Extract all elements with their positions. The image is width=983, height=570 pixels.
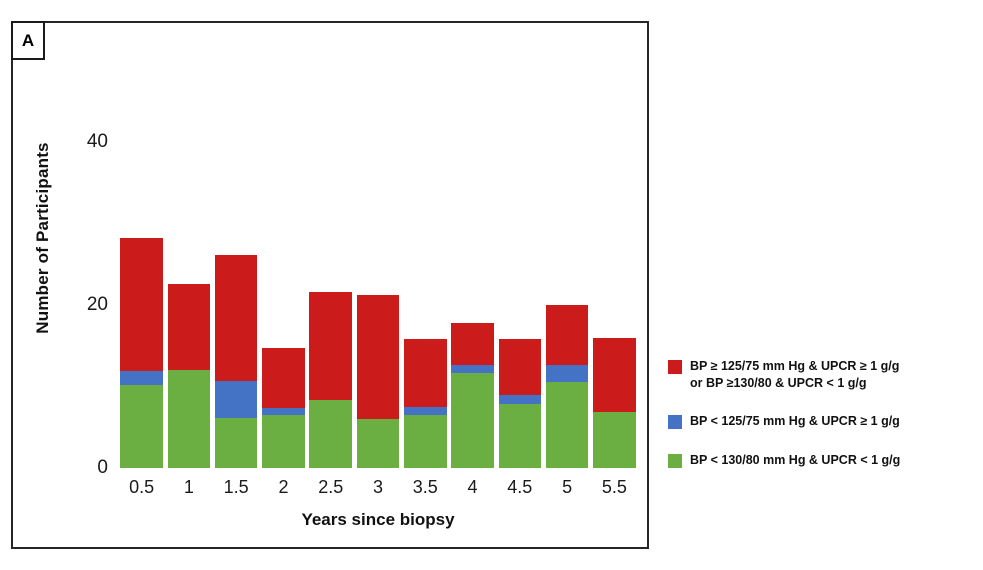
- bar-stack: [168, 284, 211, 468]
- bar-stack: [262, 348, 305, 468]
- plot-area: [118, 126, 638, 468]
- bar-stack: [451, 323, 494, 468]
- bar-segment[interactable]: [262, 408, 305, 415]
- legend-item[interactable]: BP < 125/75 mm Hg & UPCR ≥ 1 g/g: [668, 413, 976, 430]
- legend-label: BP ≥ 125/75 mm Hg & UPCR ≥ 1 g/g or BP ≥…: [690, 358, 899, 391]
- x-axis-title: Years since biopsy: [118, 510, 638, 530]
- x-axis-tick: 0.5: [118, 478, 165, 496]
- legend-swatch-icon: [668, 360, 682, 374]
- y-axis-tick: 20: [48, 295, 108, 314]
- y-axis-tick: 0: [48, 458, 108, 477]
- chart-legend: BP ≥ 125/75 mm Hg & UPCR ≥ 1 g/g or BP ≥…: [668, 358, 976, 490]
- bar-group[interactable]: [262, 126, 305, 468]
- bar-segment[interactable]: [593, 338, 636, 412]
- bar-segment[interactable]: [593, 412, 636, 468]
- x-axis-tick: 2.5: [307, 478, 354, 496]
- bar-stack: [404, 339, 447, 468]
- x-axis-tick: 5: [543, 478, 590, 496]
- bar-group[interactable]: [499, 126, 542, 468]
- bar-segment[interactable]: [357, 419, 400, 468]
- bar-segment[interactable]: [215, 381, 258, 418]
- bar-segment[interactable]: [499, 339, 542, 394]
- legend-label: BP < 130/80 mm Hg & UPCR < 1 g/g: [690, 452, 900, 469]
- bar-stack: [593, 338, 636, 468]
- bar-segment[interactable]: [120, 371, 163, 385]
- bar-segment[interactable]: [546, 382, 589, 468]
- legend-swatch-icon: [668, 415, 682, 429]
- bar-stack: [357, 295, 400, 468]
- bar-segment[interactable]: [451, 323, 494, 365]
- legend-label: BP < 125/75 mm Hg & UPCR ≥ 1 g/g: [690, 413, 900, 430]
- y-axis-tick: 40: [48, 132, 108, 151]
- bar-segment[interactable]: [215, 255, 258, 380]
- legend-item[interactable]: BP < 130/80 mm Hg & UPCR < 1 g/g: [668, 452, 976, 469]
- x-axis-tick: 1.5: [213, 478, 260, 496]
- bar-segment[interactable]: [404, 415, 447, 468]
- bar-stack: [120, 238, 163, 468]
- bar-segment[interactable]: [404, 339, 447, 407]
- bar-group[interactable]: [168, 126, 211, 468]
- bar-segment[interactable]: [546, 305, 589, 364]
- bar-segment[interactable]: [168, 284, 211, 370]
- bar-group[interactable]: [120, 126, 163, 468]
- bar-group[interactable]: [309, 126, 352, 468]
- bar-segment[interactable]: [309, 292, 352, 400]
- bar-group[interactable]: [546, 126, 589, 468]
- bar-segment[interactable]: [404, 407, 447, 415]
- bar-group[interactable]: [593, 126, 636, 468]
- bar-group[interactable]: [451, 126, 494, 468]
- bar-segment[interactable]: [451, 365, 494, 373]
- x-axis-tick-labels: 0.511.522.533.544.555.5: [118, 478, 638, 504]
- bar-group[interactable]: [357, 126, 400, 468]
- bar-segment[interactable]: [499, 404, 542, 468]
- x-axis-tick: 3: [354, 478, 401, 496]
- bar-segment[interactable]: [451, 373, 494, 468]
- bar-group[interactable]: [215, 126, 258, 468]
- y-axis-tick-labels: 02040: [46, 0, 108, 570]
- x-axis-tick: 4: [449, 478, 496, 496]
- bar-segment[interactable]: [546, 365, 589, 382]
- bar-stack: [499, 339, 542, 468]
- x-axis-tick: 2: [260, 478, 307, 496]
- legend-swatch-icon: [668, 454, 682, 468]
- x-axis-tick: 5.5: [591, 478, 638, 496]
- bar-stack: [215, 255, 258, 468]
- bar-segment[interactable]: [309, 400, 352, 468]
- bar-segment[interactable]: [120, 385, 163, 468]
- bar-segment[interactable]: [499, 395, 542, 404]
- bar-segment[interactable]: [215, 418, 258, 468]
- bar-group[interactable]: [404, 126, 447, 468]
- legend-item[interactable]: BP ≥ 125/75 mm Hg & UPCR ≥ 1 g/g or BP ≥…: [668, 358, 976, 391]
- bar-segment[interactable]: [120, 238, 163, 372]
- y-axis-title: Number of Participants: [33, 123, 53, 353]
- bar-stack: [546, 305, 589, 468]
- bar-segment[interactable]: [357, 295, 400, 420]
- x-axis-tick: 1: [165, 478, 212, 496]
- figure-panel-a: A 02040 Number of Participants 0.511.522…: [0, 0, 983, 570]
- bar-segment[interactable]: [262, 348, 305, 407]
- x-axis-tick: 4.5: [496, 478, 543, 496]
- bar-segment[interactable]: [262, 415, 305, 468]
- panel-label-a: A: [11, 21, 45, 60]
- bar-segment[interactable]: [168, 370, 211, 468]
- bar-stack: [309, 292, 352, 468]
- x-axis-tick: 3.5: [402, 478, 449, 496]
